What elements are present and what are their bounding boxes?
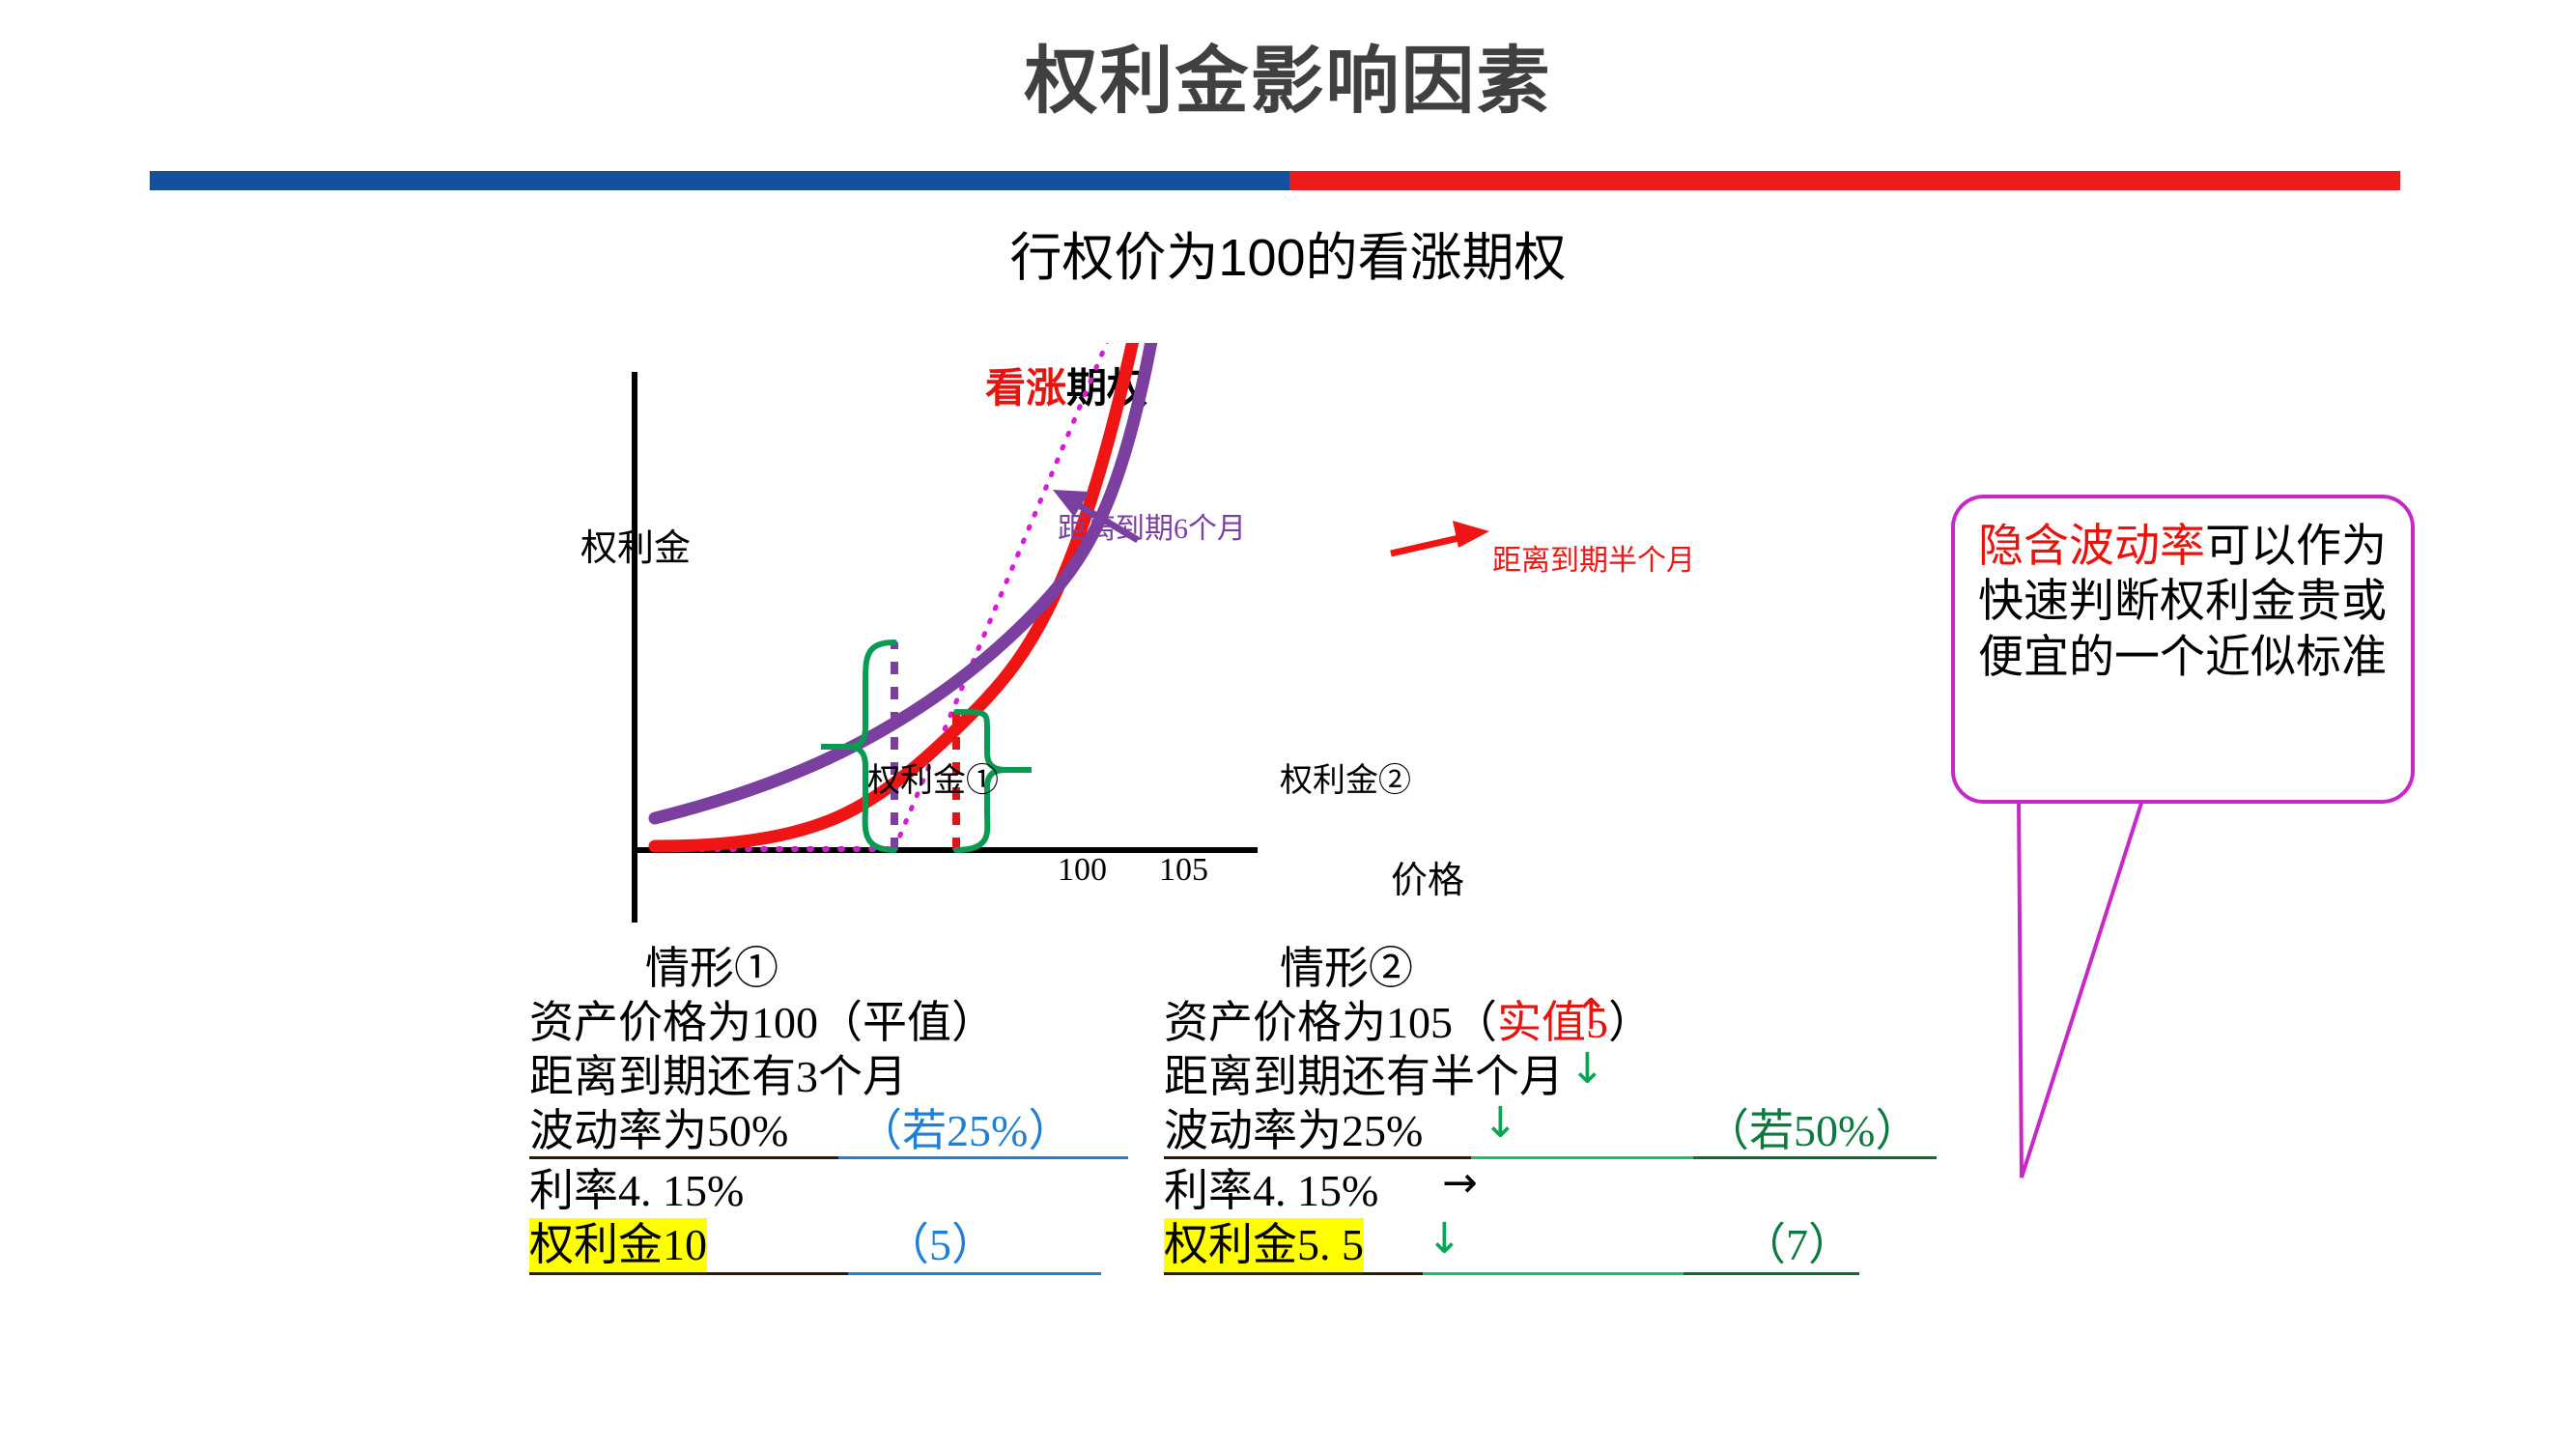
callout: 隐含波动率可以作为快速判断权利金贵或便宜的一个近似标准 bbox=[1951, 495, 2415, 804]
curve-note-half-month: 距离到期半个月 bbox=[1492, 536, 1695, 579]
scenario-2-vol-underline-black bbox=[1164, 1156, 1471, 1159]
x-tick-100: 100 bbox=[1058, 852, 1107, 889]
scenario-1-heading: 情形① bbox=[645, 942, 1128, 996]
callout-tail-icon bbox=[1758, 784, 2144, 1200]
scenario-2-premium-underline-green-dark bbox=[1684, 1272, 1859, 1275]
scenario-1: 情形① 资产价格为100（平值） 距离到期还有3个月 波动率为50% （若25%… bbox=[529, 942, 1128, 1278]
half-month-arrow bbox=[1391, 521, 1489, 554]
subtitle: 行权价为100的看涨期权 bbox=[0, 214, 2576, 291]
scenario-2-rate-arrow-icon: → bbox=[1442, 1162, 1478, 1205]
scenario-1-vol-underline-blue bbox=[838, 1156, 1128, 1159]
scenario-1-row-price: 资产价格为100（平值） bbox=[529, 996, 1128, 1050]
page-title: 权利金影响因素 bbox=[0, 21, 2576, 128]
scenario-2-price-tail: ） bbox=[1608, 998, 1653, 1047]
premium-1-label: 权利金① bbox=[867, 753, 999, 801]
title-divider-bar bbox=[150, 171, 2400, 190]
scenario-1-rate-text: 利率4. 15% bbox=[529, 1164, 744, 1218]
premium-1-brace bbox=[846, 642, 894, 850]
scenario-1-premium-underline-black bbox=[529, 1272, 848, 1275]
scenario-2-vol-underline-green-light bbox=[1471, 1156, 1693, 1159]
scenario-1-vol-text: 波动率为50% bbox=[529, 1104, 788, 1158]
scenario-1-vol-alt: （若25%） bbox=[858, 1104, 1072, 1158]
divider-red-segment bbox=[1289, 171, 2400, 190]
scenario-1-premium-text: 权利金10 bbox=[529, 1218, 707, 1272]
scenario-1-row-premium: 权利金10 （5） bbox=[529, 1218, 1128, 1278]
callout-emphasis: 隐含波动率 bbox=[1978, 520, 2205, 571]
callout-text: 隐含波动率可以作为快速判断权利金贵或便宜的一个近似标准 bbox=[1978, 518, 2392, 684]
scenario-2-premium-alt: （7） bbox=[1741, 1218, 1853, 1272]
scenario-1-row-expiry: 距离到期还有3个月 bbox=[529, 1050, 1128, 1104]
scenario-2-premium-arrow-icon: ↓ bbox=[1427, 1218, 1462, 1261]
scenario-1-premium-alt: （5） bbox=[885, 1218, 996, 1272]
x-tick-105: 105 bbox=[1159, 852, 1208, 889]
divider-blue-segment bbox=[150, 171, 1289, 190]
curve-note-six-month: 距离到期6个月 bbox=[1058, 504, 1246, 547]
option-premium-chart bbox=[541, 343, 1681, 923]
y-axis-label: 权利金 bbox=[580, 529, 623, 568]
scenario-2-vol-text: 波动率为25% bbox=[1164, 1104, 1423, 1158]
scenario-1-vol-underline-black bbox=[529, 1156, 838, 1159]
scenario-2-vol-arrow-icon: ↓ bbox=[1483, 1102, 1518, 1145]
x-axis-label: 价格 bbox=[1391, 850, 1464, 903]
scenario-1-price-text: 资产价格为100（平值） bbox=[529, 996, 996, 1050]
scenario-2-premium-text: 权利金5. 5 bbox=[1164, 1218, 1364, 1272]
premium-2-label: 权利金② bbox=[1280, 753, 1411, 801]
scenario-1-premium-underline-blue bbox=[848, 1272, 1101, 1275]
scenario-1-expiry-text: 距离到期还有3个月 bbox=[529, 1050, 907, 1104]
scenario-2-row-premium: 权利金5. 5 ↓ （7） bbox=[1164, 1218, 1937, 1278]
scenario-2-price-lead: 资产价格为105（ bbox=[1164, 998, 1497, 1047]
scenario-2-price-arrow-icon: ↑ bbox=[1573, 994, 1609, 1037]
scenario-2-premium-underline-green-light bbox=[1423, 1272, 1684, 1275]
scenario-1-row-rate: 利率4. 15% bbox=[529, 1164, 1128, 1218]
scenario-1-row-vol: 波动率为50% （若25%） bbox=[529, 1104, 1128, 1164]
curve-six-month bbox=[655, 343, 1157, 818]
scenario-2-expiry-text: 距离到期还有半个月 bbox=[1164, 1050, 1564, 1104]
scenario-area: 情形① 资产价格为100（平值） 距离到期还有3个月 波动率为50% （若25%… bbox=[0, 942, 2576, 1357]
scenario-2-expiry-arrow-icon: ↓ bbox=[1570, 1048, 1605, 1091]
scenario-2-rate-text: 利率4. 15% bbox=[1164, 1164, 1378, 1218]
scenario-2-premium-underline-black bbox=[1164, 1272, 1423, 1275]
